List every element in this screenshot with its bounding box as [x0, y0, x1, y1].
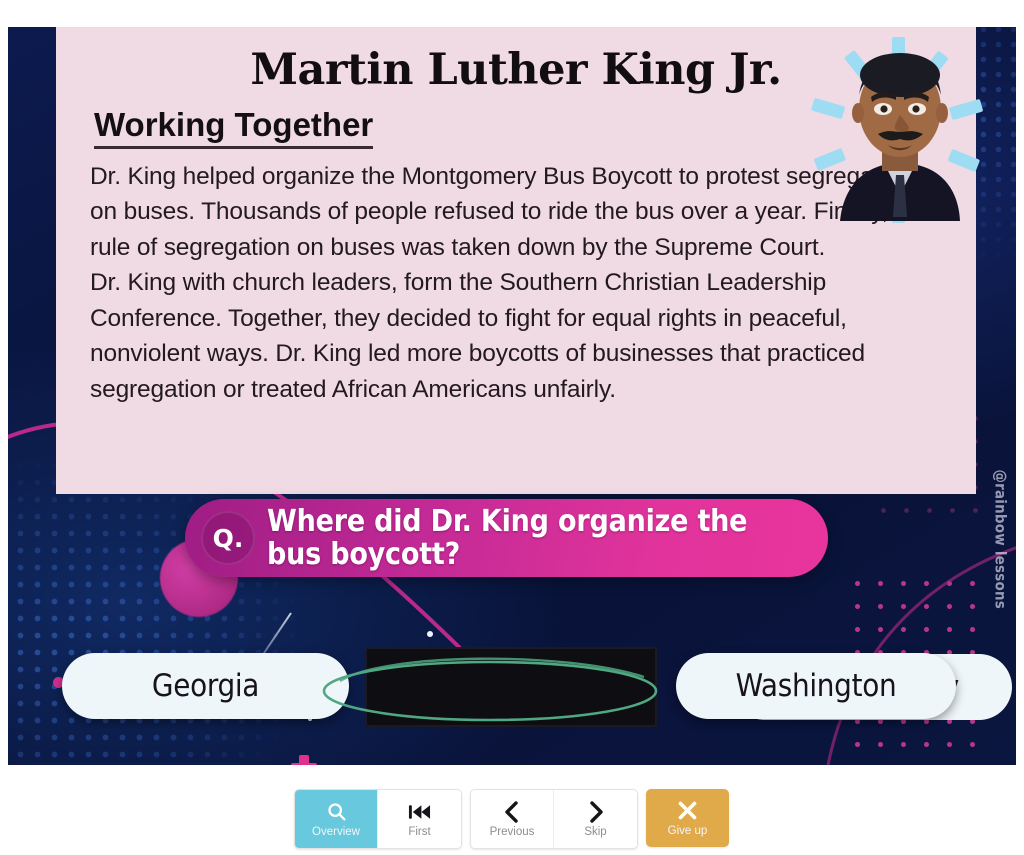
magenta-plus-decoration: [291, 755, 317, 765]
answer-option-selected-frame[interactable]: Montgomery: [365, 647, 657, 727]
toolbar-group-navigation-primary: Overview First: [294, 789, 462, 849]
give-up-button[interactable]: Give up: [646, 789, 729, 847]
answer-options-row: Georgia Montgomery Washington: [8, 647, 1016, 739]
overview-button[interactable]: Overview: [295, 790, 378, 848]
question-banner: Q. Where did Dr. King organize the bus b…: [185, 499, 828, 577]
skip-button-label: Skip: [584, 827, 606, 839]
previous-button[interactable]: Previous: [471, 790, 554, 848]
first-button[interactable]: First: [378, 790, 461, 848]
give-up-button-label: Give up: [668, 826, 708, 838]
toolbar-group-navigation-secondary: Previous Skip: [470, 789, 638, 849]
question-badge: Q.: [201, 511, 255, 565]
quiz-slide-stage: Martin Luther King Jr. Working Together …: [8, 27, 1016, 765]
answer-option-georgia[interactable]: Georgia: [62, 653, 349, 719]
chevron-left-icon: [504, 800, 520, 824]
quiz-toolbar: Overview First Previous: [294, 789, 729, 849]
watermark-label: @rainbow lessons: [992, 469, 1010, 609]
search-icon: [326, 800, 347, 824]
skip-backward-icon: [408, 800, 431, 824]
question-text: Where did Dr. King organize the bus boyc…: [267, 505, 810, 571]
chevron-right-icon: [588, 800, 604, 824]
close-x-icon: [677, 799, 698, 823]
white-sparkle-dot: [427, 631, 433, 637]
first-button-label: First: [408, 827, 430, 839]
answer-option-washington[interactable]: Washington: [676, 653, 956, 719]
overview-button-label: Overview: [312, 827, 360, 839]
mlk-portrait-icon: [808, 35, 988, 225]
lesson-paragraph-2: Dr. King with church leaders, form the S…: [90, 265, 940, 407]
lesson-content-card: Martin Luther King Jr. Working Together …: [56, 27, 976, 494]
section-heading: Working Together: [94, 108, 373, 149]
previous-button-label: Previous: [490, 827, 535, 839]
skip-button[interactable]: Skip: [554, 790, 637, 848]
